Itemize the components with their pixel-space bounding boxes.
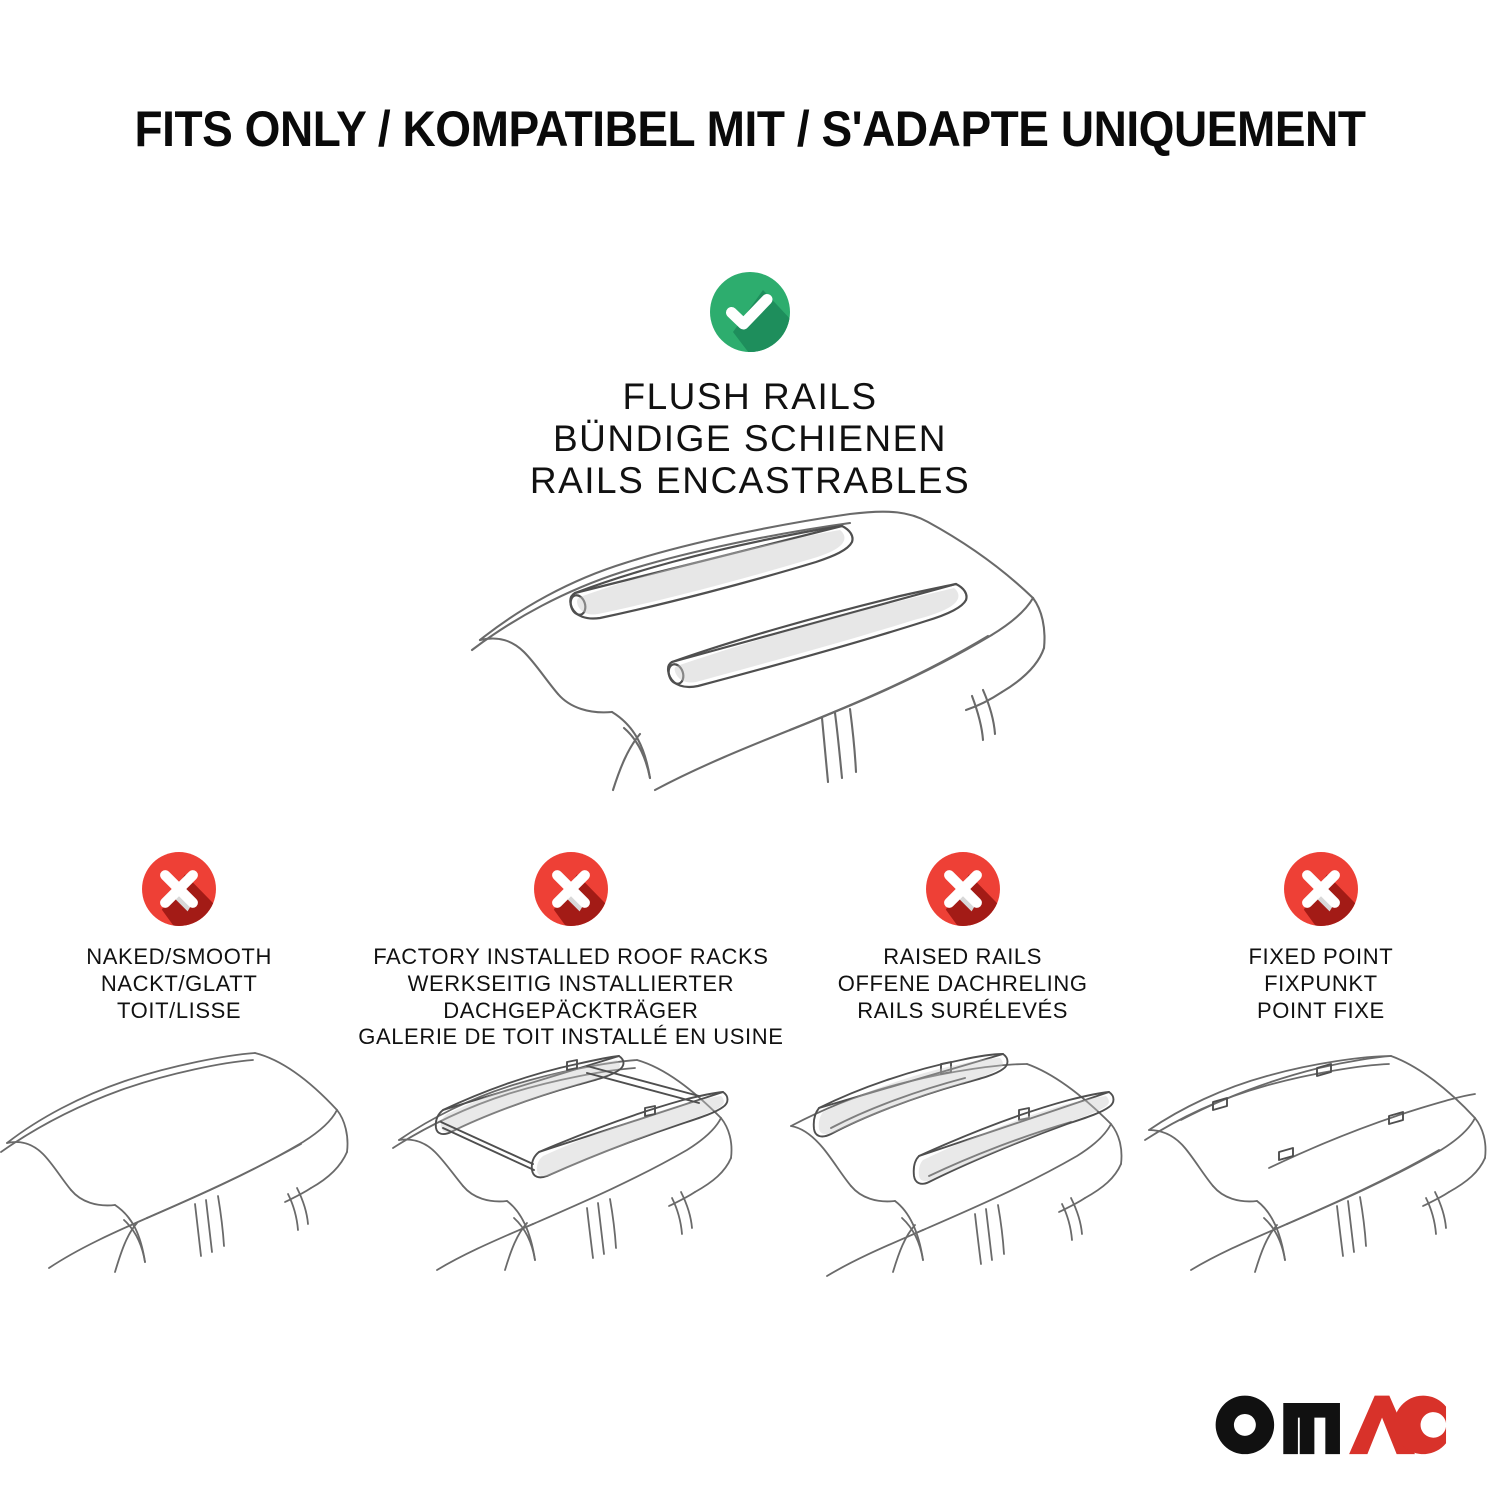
- label-line-de: OFFENE DACHRELING: [838, 971, 1088, 998]
- car-roof-fixed-point-illustration: [1139, 1048, 1500, 1288]
- header-banner: FITS ONLY / KOMPATIBEL MIT / S'ADAPTE UN…: [0, 104, 1500, 154]
- car-roof-naked-smooth-svg: [0, 1048, 361, 1288]
- car-roof-fixed-point-svg: [1139, 1048, 1500, 1288]
- check-circle-icon-svg: [700, 262, 800, 362]
- check-circle-icon: [700, 262, 800, 362]
- compatible-label-line-fr: RAILS ENCASTRABLES: [0, 460, 1500, 502]
- label-line-en: RAISED RAILS: [838, 944, 1088, 971]
- incompatible-label-raised-rails: RAISED RAILS OFFENE DACHRELING RAILS SUR…: [838, 944, 1088, 1024]
- incompatible-item-raised-rails: RAISED RAILS OFFENE DACHRELING RAILS SUR…: [784, 846, 1142, 1024]
- car-roof-raised-rails-svg: [773, 1048, 1153, 1288]
- cross-circle-icon-svg: [528, 846, 614, 932]
- car-roof-naked-smooth-illustration: [0, 1048, 361, 1288]
- cross-circle-icon: [920, 846, 1006, 932]
- label-line-en: NAKED/SMOOTH: [86, 944, 272, 971]
- cross-circle-icon: [136, 846, 222, 932]
- cross-circle-icon-svg: [1278, 846, 1364, 932]
- omac-logo-svg: [1210, 1392, 1448, 1456]
- incompatible-label-naked-smooth: NAKED/SMOOTH NACKT/GLATT TOIT/LISSE: [86, 944, 272, 1024]
- car-roof-factory-racks-svg: [381, 1048, 761, 1288]
- incompatible-label-factory-racks: FACTORY INSTALLED ROOF RACKS WERKSEITIG …: [358, 944, 783, 1051]
- incompatible-section: NAKED/SMOOTH NACKT/GLATT TOIT/LISSE: [0, 846, 1500, 1051]
- cross-circle-icon: [1278, 846, 1364, 932]
- label-line-fr: RAILS SURÉLEVÉS: [838, 998, 1088, 1025]
- label-line-de-1: WERKSEITIG INSTALLIERTER: [358, 971, 783, 998]
- omac-logo: OMAC: [1210, 1392, 1448, 1456]
- compatible-label: FLUSH RAILS BÜNDIGE SCHIENEN RAILS ENCAS…: [0, 376, 1500, 501]
- car-roof-flush-rails-illustration: [450, 500, 1050, 800]
- label-line-fr: TOIT/LISSE: [86, 998, 272, 1025]
- label-line-en: FACTORY INSTALLED ROOF RACKS: [358, 944, 783, 971]
- car-roof-flush-rails-svg: [450, 500, 1050, 800]
- compatible-label-line-de: BÜNDIGE SCHIENEN: [0, 418, 1500, 460]
- omac-logo-letter-m: [1283, 1403, 1340, 1454]
- car-roof-raised-rails-illustration: [773, 1048, 1153, 1288]
- compatible-label-line-en: FLUSH RAILS: [0, 376, 1500, 418]
- label-line-en: FIXED POINT: [1249, 944, 1394, 971]
- cross-circle-icon-svg: [136, 846, 222, 932]
- compatible-section: FLUSH RAILS BÜNDIGE SCHIENEN RAILS ENCAS…: [0, 262, 1500, 501]
- label-line-de: FIXPUNKT: [1249, 971, 1394, 998]
- omac-logo-letter-o: [1216, 1396, 1275, 1455]
- cross-circle-icon: [528, 846, 614, 932]
- incompatible-label-fixed-point: FIXED POINT FIXPUNKT POINT FIXE: [1249, 944, 1394, 1024]
- label-line-de-2: DACHGEPÄCKTRÄGER: [358, 998, 783, 1025]
- page-title: FITS ONLY / KOMPATIBEL MIT / S'ADAPTE UN…: [60, 104, 1440, 154]
- cross-circle-icon-svg: [920, 846, 1006, 932]
- label-line-fr: POINT FIXE: [1249, 998, 1394, 1025]
- label-line-de: NACKT/GLATT: [86, 971, 272, 998]
- incompatible-item-naked-smooth: NAKED/SMOOTH NACKT/GLATT TOIT/LISSE: [0, 846, 358, 1024]
- incompatible-item-fixed-point: FIXED POINT FIXPUNKT POINT FIXE: [1142, 846, 1500, 1024]
- car-roof-factory-racks-illustration: [381, 1048, 761, 1288]
- incompatible-item-factory-racks: FACTORY INSTALLED ROOF RACKS WERKSEITIG …: [358, 846, 783, 1051]
